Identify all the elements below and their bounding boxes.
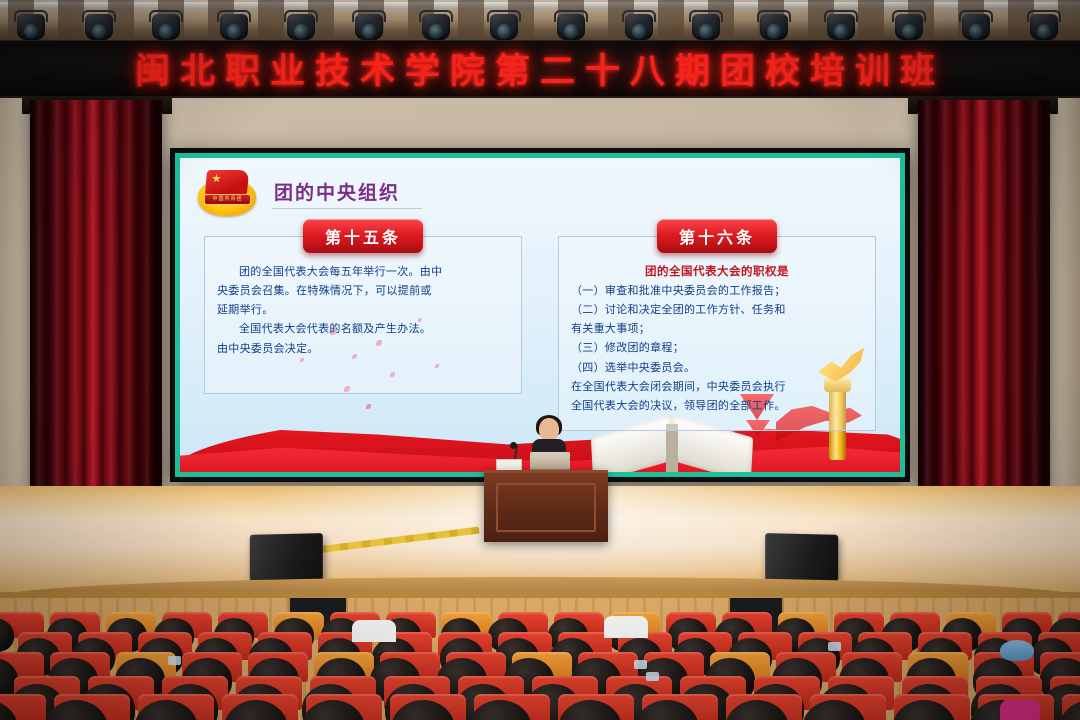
text-line: 全国代表大会代表的名额及产生办法。: [217, 320, 509, 338]
stage-light-icon: [352, 8, 386, 44]
led-banner-text: 闽北职业技术学院第二十八期团校培训班: [135, 43, 945, 94]
microphone-capsule: [510, 442, 517, 449]
article-badge-15: 第十五条: [303, 219, 423, 253]
ceiling-slat: [58, 0, 84, 44]
red-curtain-right: [918, 100, 1050, 498]
audience-blue-cap: [1000, 640, 1034, 661]
book-spine: [666, 424, 678, 472]
text-line: （四）选举中央委员会。: [571, 359, 863, 377]
communist-youth-league-emblem: 中国共青团: [196, 168, 258, 218]
article-panels: 第十五条 团的全国代表大会每五年举行一次。由中 央委员会召集。在特殊情况下，可以…: [204, 236, 876, 431]
red-curtain-left: [30, 100, 162, 498]
phone-screen: [828, 642, 841, 651]
text-line: 有关重大事项；: [571, 320, 863, 338]
text-line: （三）修改团的章程；: [571, 339, 863, 357]
text-line: 全国代表大会的决议，领导团的全部工作。: [571, 397, 863, 415]
audience-white-shirt: [604, 616, 648, 638]
text-line: 由中央委员会决定。: [217, 340, 509, 358]
text-line: （一）审查和批准中央委员会的工作报告；: [571, 282, 863, 300]
text-line: （二）讨论和决定全团的工作方针、任务和: [571, 301, 863, 319]
text-line: 在全国代表大会闭会期间，中央委员会执行: [571, 378, 863, 396]
stage-light-icon: [419, 8, 453, 44]
article-text-15: 团的全国代表大会每五年举行一次。由中 央委员会召集。在特殊情况下，可以提前或 延…: [217, 263, 509, 358]
stage-light-icon: [757, 8, 791, 44]
audience-white-shirt: [352, 620, 396, 642]
stage-light-icon: [217, 8, 251, 44]
laptop: [530, 452, 570, 472]
presenter-head: [539, 418, 559, 441]
text-line: 延期举行。: [217, 301, 509, 319]
stage-light-icon: [892, 8, 926, 44]
auditorium-scene: 闽北职业技术学院第二十八期团校培训班: [0, 0, 1080, 720]
phone-screen: [634, 660, 647, 669]
ceiling-slat: [258, 0, 284, 44]
article-subhead-16: 团的全国代表大会的职权是: [571, 263, 863, 279]
text-line: 团的全国代表大会每五年举行一次。由中: [217, 263, 509, 281]
article-text-16: （一）审查和批准中央委员会的工作报告； （二）讨论和决定全团的工作方针、任务和 …: [571, 282, 863, 415]
emblem-band-text: 中国共青团: [205, 195, 250, 204]
slide-header: 中国共青团 团的中央组织: [196, 168, 422, 218]
podium-panel-inset: [496, 483, 596, 532]
article-box-15: 团的全国代表大会每五年举行一次。由中 央委员会召集。在特殊情况下，可以提前或 延…: [204, 236, 522, 394]
led-banner: 闽北职业技术学院第二十八期团校培训班: [0, 40, 1080, 98]
stage-light-icon: [689, 8, 723, 44]
text-line: 央委员会召集。在特殊情况下，可以提前或: [217, 282, 509, 300]
emblem-flag: [205, 170, 249, 195]
article-box-16: 团的全国代表大会的职权是 （一）审查和批准中央委员会的工作报告； （二）讨论和决…: [558, 236, 876, 431]
stage-light-icon: [622, 8, 656, 44]
ceiling: [0, 0, 1080, 44]
article-panel-15: 第十五条 团的全国代表大会每五年举行一次。由中 央委员会召集。在特殊情况下，可以…: [204, 236, 522, 431]
phone-screen: [168, 656, 181, 665]
stage-light-icon: [1027, 8, 1061, 44]
stage-light-icon: [487, 8, 521, 44]
ceiling-slat: [1058, 0, 1080, 44]
ceiling-slat: [658, 0, 684, 44]
stage-light-icon: [554, 8, 588, 44]
phone-screen: [646, 672, 659, 681]
stage-light-icon: [82, 8, 116, 44]
wooden-podium: [484, 470, 608, 542]
auditorium-wall-trim: [0, 592, 1080, 598]
ceiling-slat: [858, 0, 884, 44]
emblem-band: 中国共青团: [204, 194, 251, 205]
ceiling-slat: [458, 0, 484, 44]
article-panel-16: 第十六条 团的全国代表大会的职权是 （一）审查和批准中央委员会的工作报告； （二…: [558, 236, 876, 431]
stage-light-icon: [14, 8, 48, 44]
article-badge-16: 第十六条: [657, 219, 777, 253]
floor-monitor-right: [765, 533, 838, 583]
floor-monitor-left: [250, 533, 323, 583]
stage-light-icon: [959, 8, 993, 44]
audience-pink-shirt: [1000, 700, 1040, 720]
stage-light-icon: [149, 8, 183, 44]
slide-title: 团的中央组织: [272, 178, 422, 209]
stage-light-icon: [284, 8, 318, 44]
stage-light-icon: [824, 8, 858, 44]
